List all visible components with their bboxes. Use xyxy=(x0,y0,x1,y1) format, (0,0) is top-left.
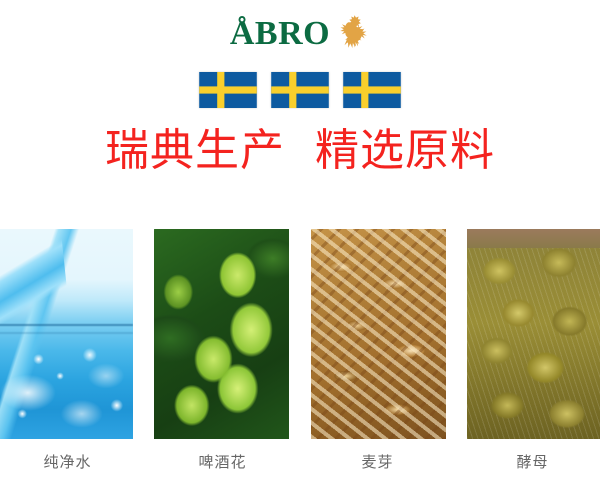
water-stream-shape xyxy=(0,229,72,346)
ingredient-cell-hops xyxy=(154,229,289,439)
heraldic-lion-rampant-icon xyxy=(334,13,370,53)
swedish-flag xyxy=(199,72,257,108)
hops-photo xyxy=(154,229,289,439)
ingredient-photo-strip xyxy=(0,229,600,439)
ingredient-cell-malt xyxy=(311,229,446,439)
ingredient-caption-yeast: 酵母 xyxy=(465,448,600,488)
ingredient-caption-water: 纯净水 xyxy=(0,448,135,488)
water-surface-line xyxy=(0,324,133,326)
hop-leaf-vein-texture xyxy=(154,229,289,439)
ingredient-cell-yeast xyxy=(467,229,600,439)
ingredient-caption-row: 纯净水 啤酒花 麦芽 酵母 xyxy=(0,448,600,488)
swedish-flag xyxy=(343,72,401,108)
swedish-flag-row xyxy=(0,66,600,114)
brand-wordmark: ÅBRO xyxy=(230,17,330,51)
yeast-background-band xyxy=(467,229,600,248)
headline-container: 瑞典生产 精选原料 xyxy=(0,114,600,188)
pure-water-photo xyxy=(0,229,133,439)
headline-text: 瑞典生产 精选原料 xyxy=(105,129,495,173)
swedish-flag xyxy=(271,72,329,108)
water-surface-line-secondary xyxy=(0,332,133,334)
ingredient-caption-malt: 麦芽 xyxy=(310,448,445,488)
brand-logo: ÅBRO xyxy=(0,0,600,66)
malt-photo xyxy=(311,229,446,439)
ingredient-cell-water xyxy=(0,229,133,439)
ingredient-caption-hops: 啤酒花 xyxy=(155,448,290,488)
yeast-photo xyxy=(467,229,600,439)
